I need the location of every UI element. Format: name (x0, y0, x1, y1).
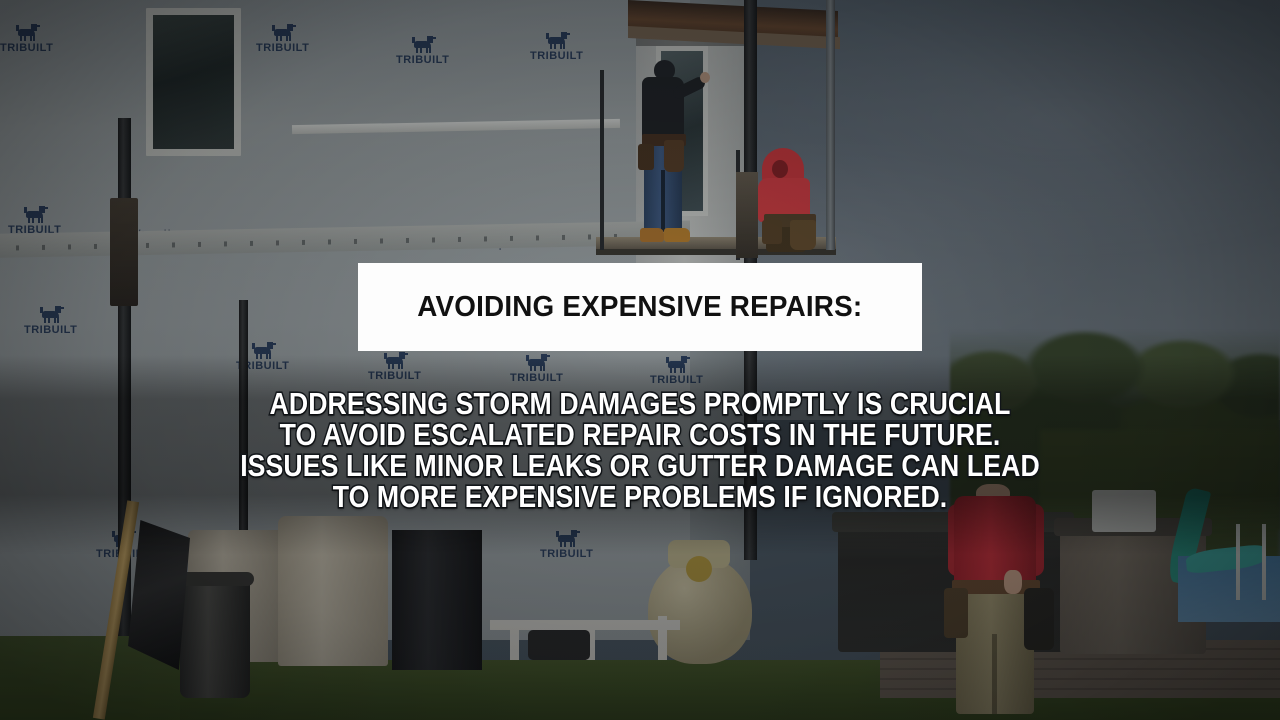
body-caption-line: ADDRESSING STORM DAMAGES PROMPTLY IS CRU… (90, 388, 1191, 419)
title-text: AVOIDING EXPENSIVE REPAIRS: (417, 291, 862, 324)
body-caption-line: TO AVOID ESCALATED REPAIR COSTS IN THE F… (90, 419, 1191, 450)
video-frame: TRIBUILTTRIBUILTTRIBUILTTRIBUILTTRIBUILT… (0, 0, 1280, 720)
title-banner: AVOIDING EXPENSIVE REPAIRS: (358, 263, 922, 351)
body-caption: ADDRESSING STORM DAMAGES PROMPTLY IS CRU… (0, 388, 1280, 512)
body-caption-line: TO MORE EXPENSIVE PROBLEMS IF IGNORED. (90, 481, 1191, 512)
body-caption-line: ISSUES LIKE MINOR LEAKS OR GUTTER DAMAGE… (90, 450, 1191, 481)
background-photo: TRIBUILTTRIBUILTTRIBUILTTRIBUILTTRIBUILT… (0, 0, 1280, 720)
